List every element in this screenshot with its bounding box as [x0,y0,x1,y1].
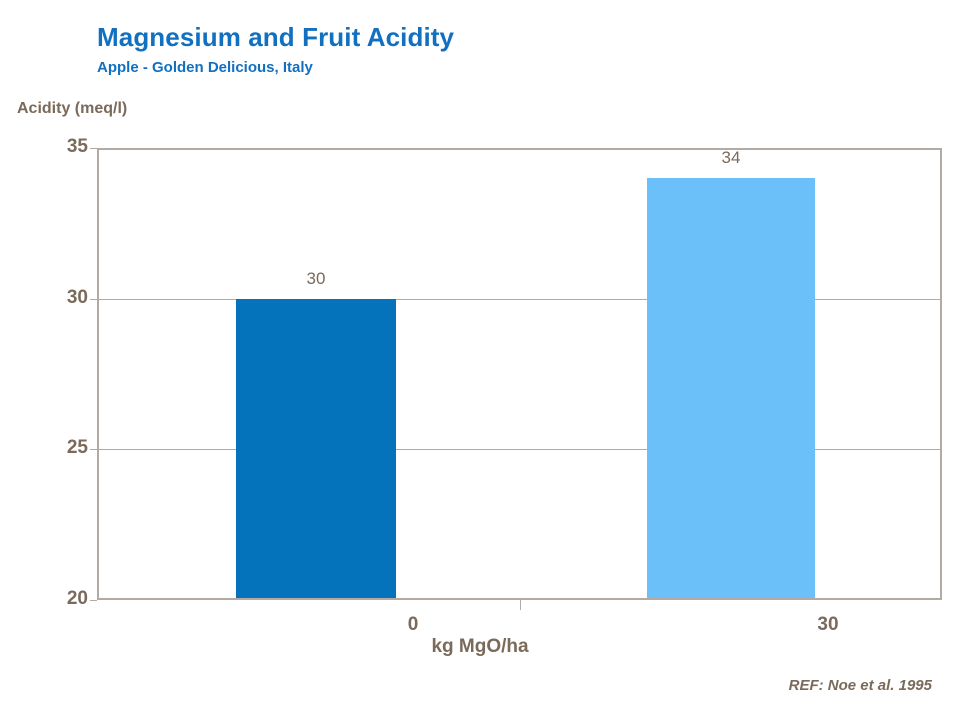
y-axis-tick-label: 25 [40,437,88,459]
plot-area: 3034 [97,148,942,600]
y-axis-tick-mark [90,299,97,300]
y-axis-tick-mark [90,449,97,450]
plot-border-left [97,148,99,600]
x-axis-category-label: 30 [768,614,888,636]
bar[interactable] [647,178,815,598]
x-axis-tick-mid [520,600,521,610]
y-axis-tick-mark [90,600,97,601]
y-axis-tick-mark [90,148,97,149]
y-axis-tick-label: 35 [40,136,88,158]
x-axis-category-label: 0 [353,614,473,636]
plot-border-top [97,148,942,150]
reference-note: REF: Noe et al. 1995 [789,677,932,694]
y-axis-tick-label: 20 [40,588,88,610]
bar[interactable] [236,299,396,598]
chart-subtitle: Apple - Golden Delicious, Italy [97,59,313,76]
bar-value-label: 34 [647,148,815,168]
y-axis-title: Acidity (meq/l) [17,100,127,118]
gridline [97,299,942,300]
y-axis-tick-label: 30 [40,287,88,309]
page-title: Magnesium and Fruit Acidity [97,22,454,53]
plot-border-right [940,148,942,600]
x-axis-title: kg MgO/ha [0,636,960,658]
gridline [97,449,942,450]
bar-value-label: 30 [236,269,396,289]
